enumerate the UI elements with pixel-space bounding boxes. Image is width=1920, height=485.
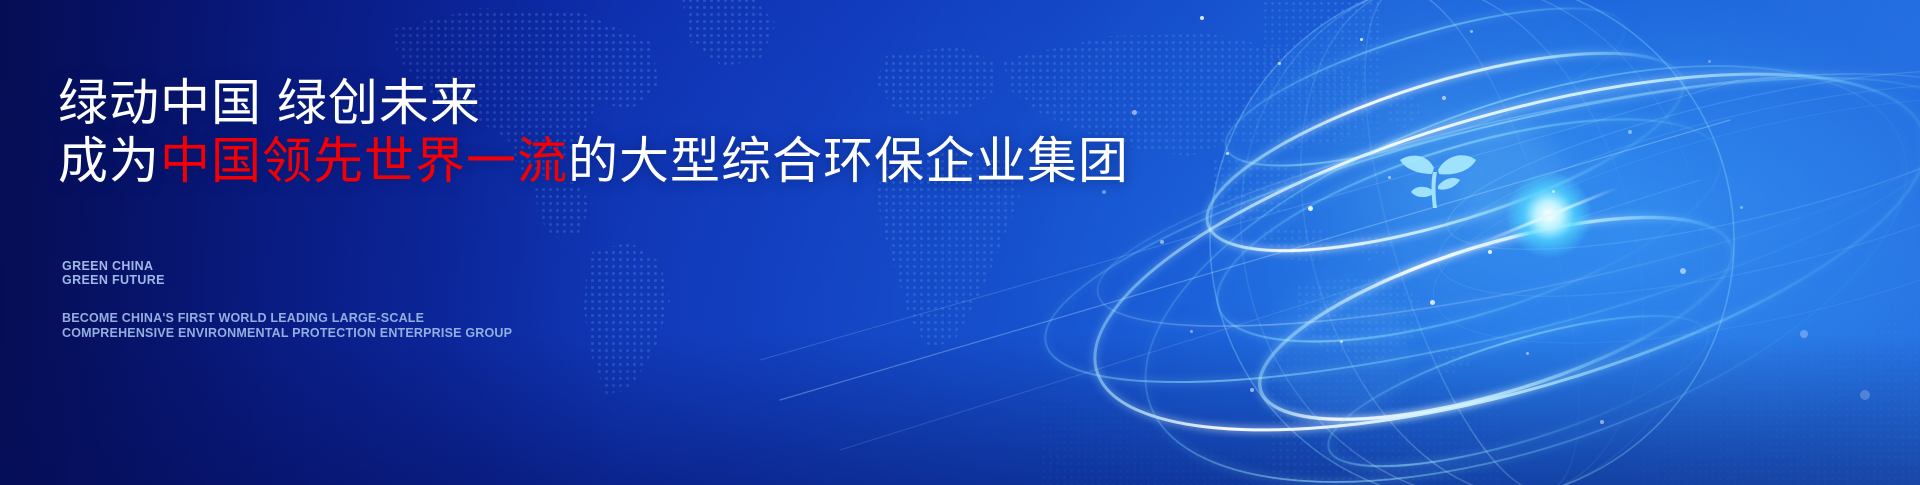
headline-suffix: 的大型综合环保企业集团 — [568, 133, 1129, 189]
slogan-en-block: GREEN CHINA GREEN FUTURE — [62, 259, 165, 287]
slogan-en-line-2: GREEN FUTURE — [62, 273, 165, 287]
hero-banner: 绿动中国 绿创未来 成为中国领先世界一流的大型综合环保企业集团 GREEN CH… — [0, 0, 1920, 485]
headline-line-1: 绿动中国 绿创未来 — [58, 74, 1058, 132]
particle-sparkles — [1040, 0, 1920, 485]
headline-line-2: 成为中国领先世界一流的大型综合环保企业集团 — [58, 132, 1058, 190]
subtitle-en-line-2: COMPREHENSIVE ENVIRONMENTAL PROTECTION E… — [62, 326, 512, 341]
left-vignette — [0, 0, 620, 485]
halftone-dots-bottom-left — [1040, 390, 1300, 485]
globe-core-glow — [1506, 172, 1592, 258]
halftone-dots-bottom-right — [1640, 300, 1920, 485]
halftone-dots-bottom-center — [1270, 300, 1500, 485]
bottom-vignette — [0, 335, 1920, 485]
dotted-world-map — [330, 0, 1510, 410]
subtitle-en-line-1: BECOME CHINA'S FIRST WORLD LEADING LARGE… — [62, 311, 512, 326]
globe-sphere-icon — [1040, 0, 1920, 485]
headline-highlight: 中国领先世界一流 — [160, 133, 568, 189]
sprout-icon — [1388, 138, 1484, 214]
subtitle-en-block: BECOME CHINA'S FIRST WORLD LEADING LARGE… — [62, 311, 512, 340]
headline-prefix: 成为 — [58, 133, 160, 189]
headline-block: 绿动中国 绿创未来 成为中国领先世界一流的大型综合环保企业集团 — [58, 74, 1058, 190]
halftone-dots-top-right — [1262, 0, 1382, 210]
slogan-en-line-1: GREEN CHINA — [62, 259, 165, 273]
